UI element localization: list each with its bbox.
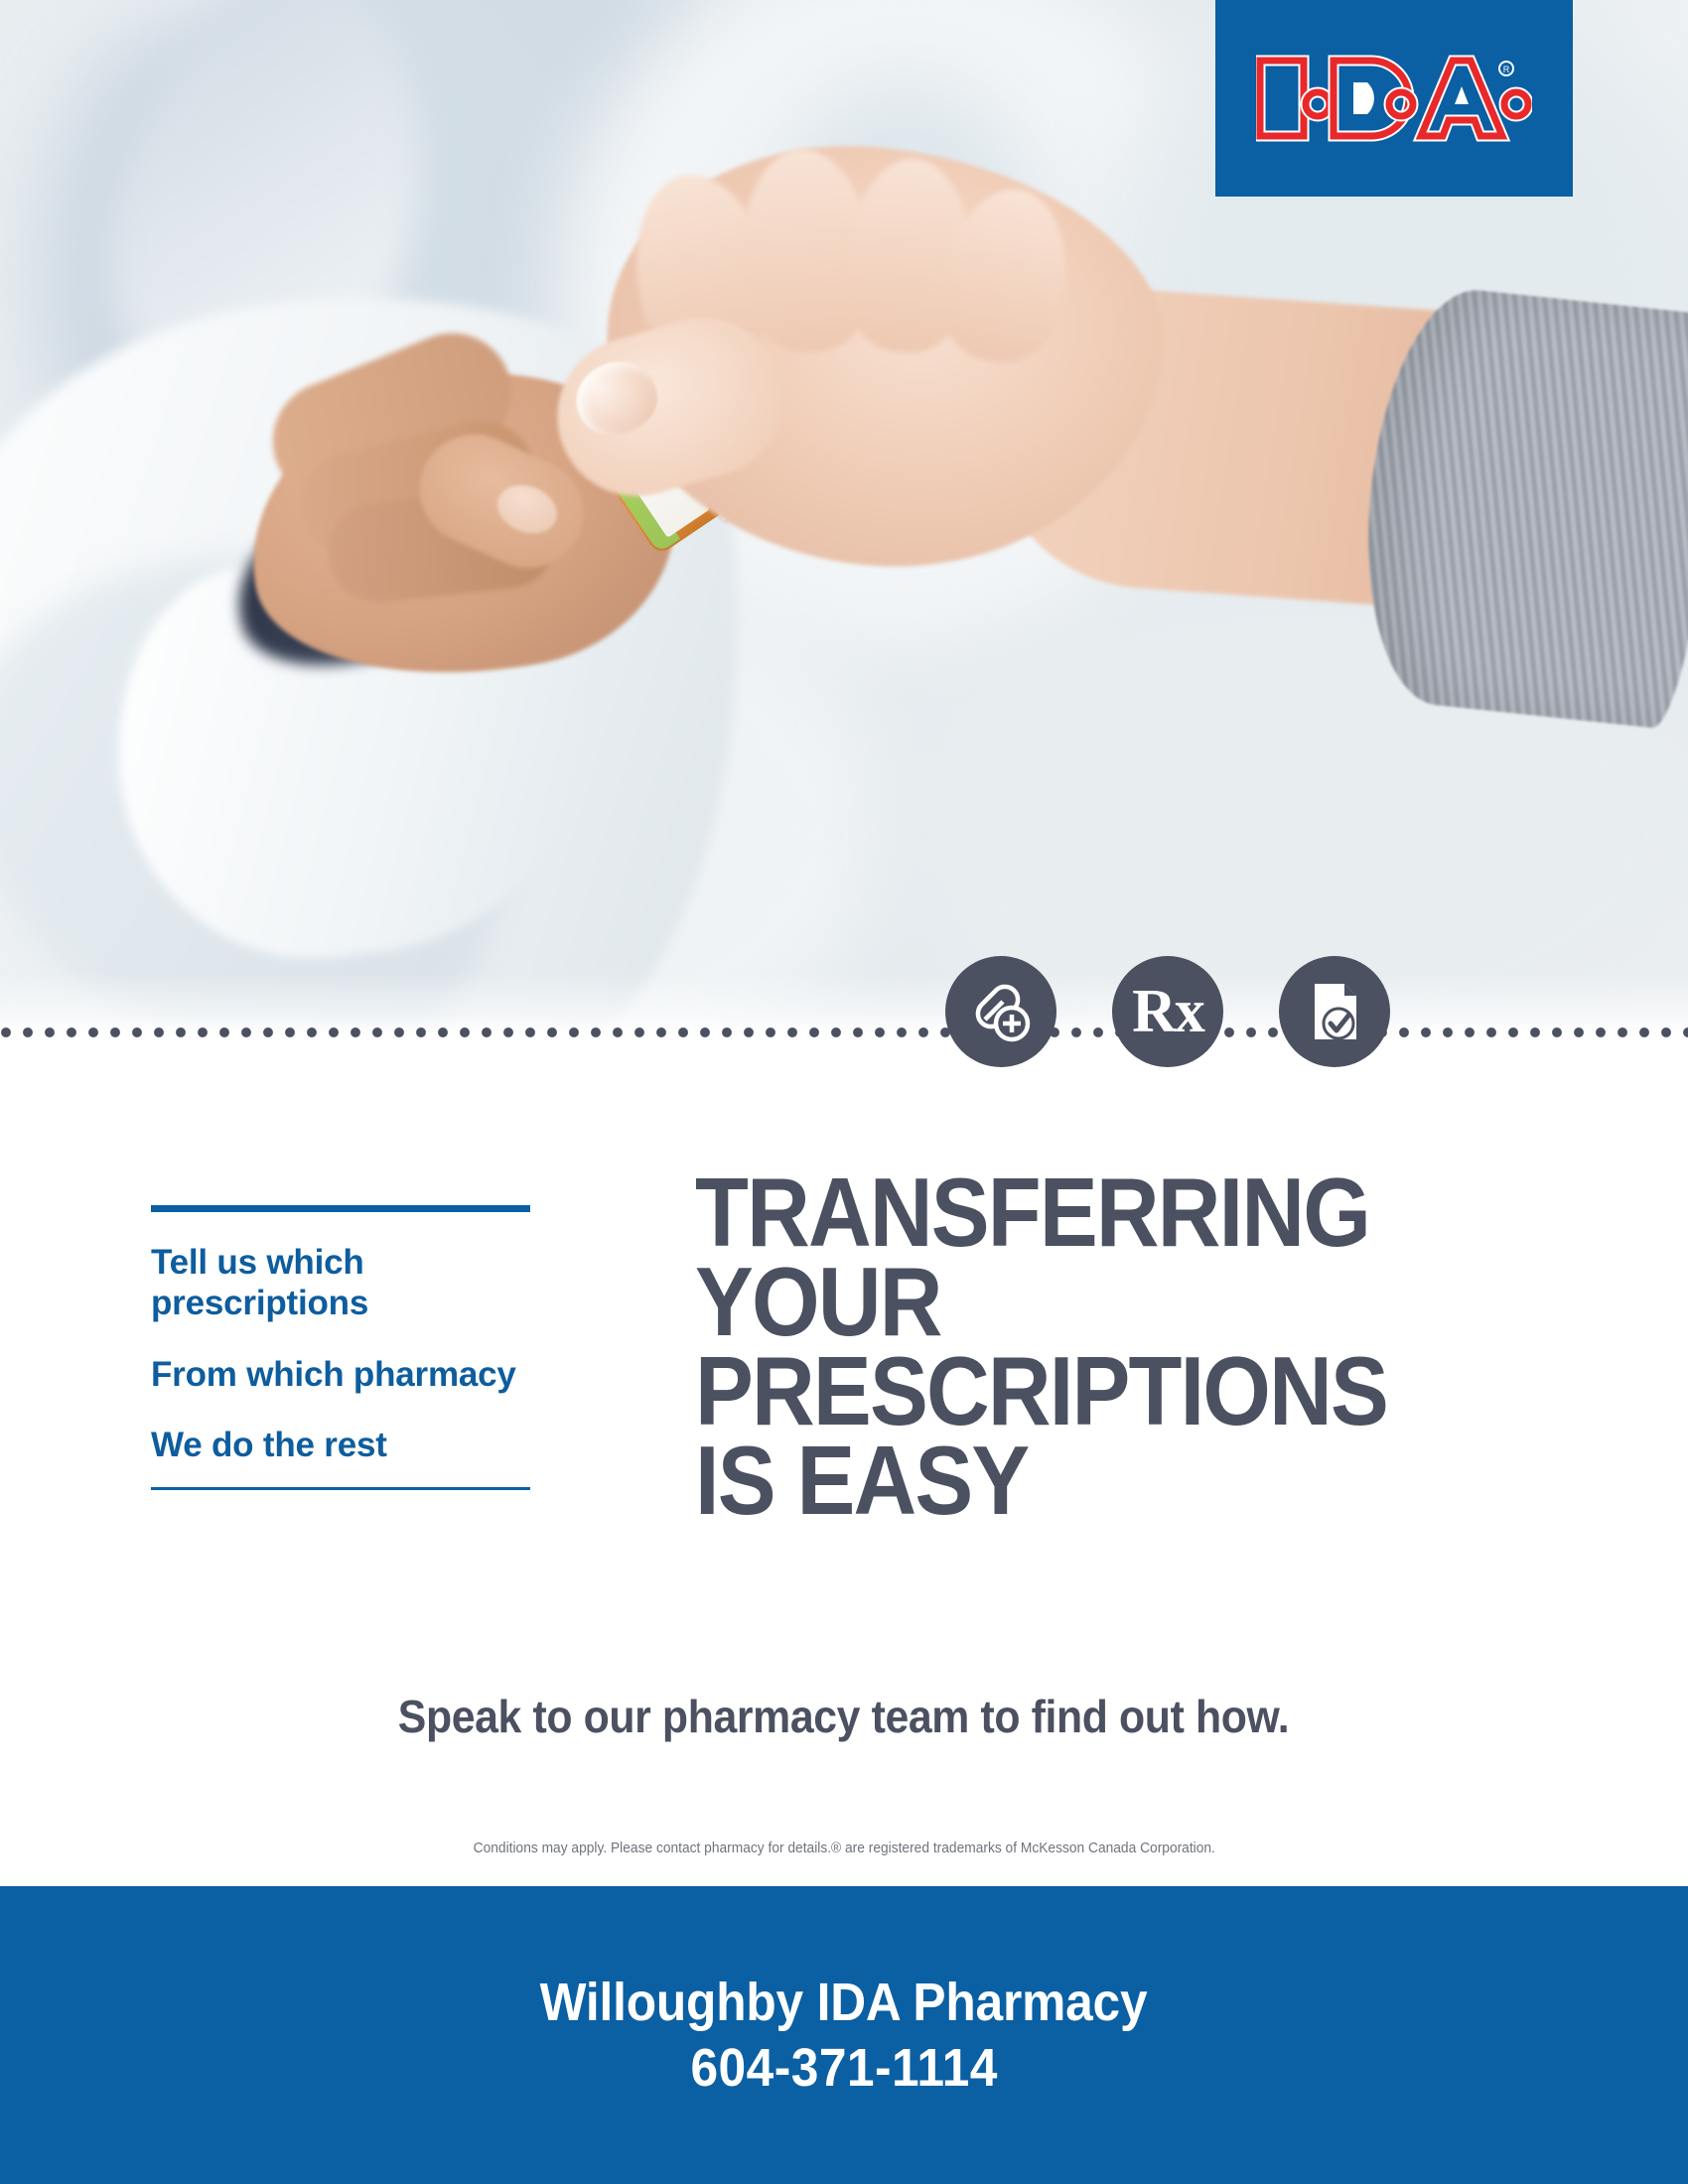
content-area: Tell us which prescriptions From which p… (0, 1040, 1688, 1886)
subheadline-text: Speak to our pharmacy team to find out h… (398, 1690, 1290, 1743)
pharmacy-name: Willoughby IDA Pharmacy (540, 1972, 1148, 2033)
page-headline: TRANSFERRING YOUR PRESCRIPTIONS IS EASY (695, 1167, 1446, 1526)
footer-bar: Willoughby IDA Pharmacy 604-371-1114 (0, 1886, 1688, 2184)
document-check-icon (1279, 956, 1390, 1067)
svg-text:R: R (1503, 65, 1510, 74)
bullet-top-rule (151, 1205, 530, 1212)
rx-glyph: Rx (1132, 981, 1203, 1042)
disclaimer: Conditions may apply. Please contact pha… (0, 1841, 1688, 1856)
subheadline: Speak to our pharmacy team to find out h… (0, 1690, 1688, 1743)
bullet-bottom-rule (151, 1487, 530, 1490)
bullet-item-2: From which pharmacy (151, 1354, 530, 1395)
bullet-item-1: Tell us which prescriptions (151, 1242, 530, 1324)
headline-line-1: TRANSFERRING (695, 1167, 1446, 1257)
dotted-divider (0, 1026, 1688, 1040)
headline-line-4: IS EASY (695, 1435, 1446, 1525)
rx-icon: Rx (1112, 956, 1223, 1067)
bullet-list: Tell us which prescriptions From which p… (151, 1205, 530, 1490)
disclaimer-text: Conditions may apply. Please contact pha… (473, 1841, 1214, 1856)
pills-plus-icon (945, 956, 1056, 1067)
headline-line-3: PRESCRIPTIONS (695, 1346, 1446, 1435)
headline-line-2: YOUR (695, 1257, 1446, 1346)
ida-logo: R (1215, 0, 1573, 197)
bullet-item-3: We do the rest (151, 1425, 530, 1465)
icon-row: Rx (945, 956, 1390, 1067)
pharmacy-phone[interactable]: 604-371-1114 (690, 2037, 997, 2099)
photo-bottom-fade (0, 973, 1688, 1032)
